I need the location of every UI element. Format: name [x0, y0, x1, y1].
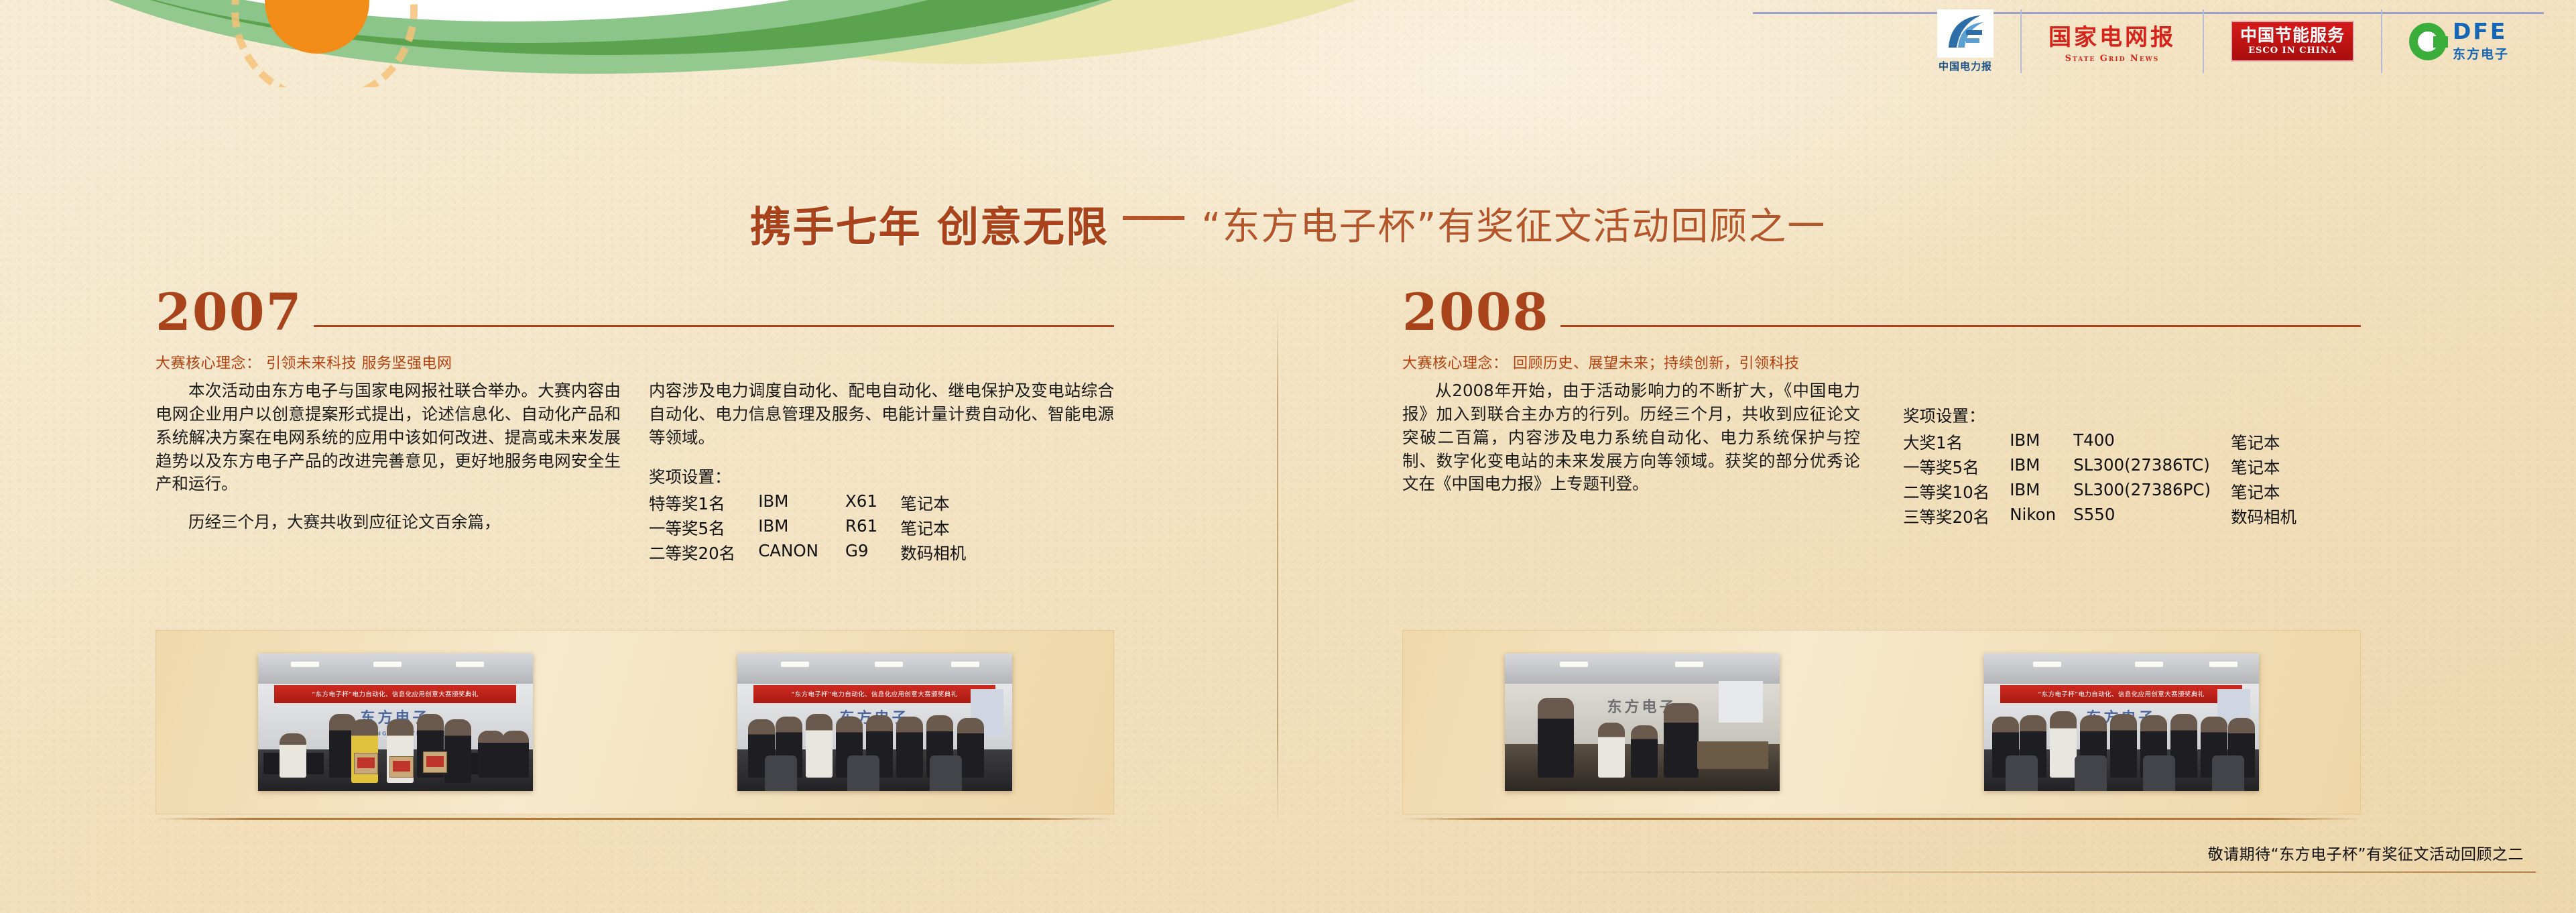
photo-award-handover: 东方电子: [1505, 654, 1780, 791]
table-row: 二等奖20名 CANON G9 数码相机: [649, 540, 966, 565]
photo-prize-box: [354, 753, 378, 774]
photo-person: [1664, 703, 1699, 778]
award-rank: 二等奖10名: [1903, 479, 2010, 504]
awards-table-2007: 特等奖1名 IBM X61 笔记本 一等奖5名 IBM R61 笔记本: [649, 491, 966, 565]
photo-person: [1538, 698, 1574, 778]
photo-backdrop-brand: 东方电子: [1554, 695, 1729, 717]
photo-person: [806, 714, 833, 777]
dfe-mark-icon: [2409, 23, 2447, 60]
photo-ceiling: [1505, 654, 1780, 684]
award-brand: IBM: [758, 491, 845, 515]
title-main-text: 携手七年 创意无限: [750, 193, 1109, 253]
photo-chair: [2006, 755, 2038, 791]
photo-chair: [2075, 755, 2107, 791]
photo-ceiling: [737, 654, 1012, 684]
photo-lamp-icon: [456, 662, 484, 667]
photo-chair: [930, 755, 962, 791]
photo-table: [1697, 741, 1769, 769]
table-row: 二等奖10名 IBM SL300(27386PC) 笔记本: [1903, 479, 2296, 504]
section-2008-kicker: 大赛核心理念： 回顾历史、展望未来；持续创新，引领科技: [1402, 351, 2361, 373]
award-brand: CANON: [758, 540, 845, 565]
photo-chair: [2143, 755, 2175, 791]
award-model: S550: [2073, 504, 2231, 529]
award-prize: 笔记本: [900, 515, 966, 540]
photo-lamp-icon: [291, 662, 319, 667]
logo-state-grid-news: 国家电网报 State Grid News: [2022, 9, 2204, 73]
award-prize: 笔记本: [2231, 454, 2296, 479]
poster-canvas: 中国电力报 国家电网报 State Grid News 中国节能服务 ESCO …: [0, 0, 2576, 913]
photo-lamp-icon: [951, 662, 979, 667]
photo-person: [1631, 725, 1658, 778]
photo-ceiling: [1984, 654, 2259, 684]
table-row: 三等奖20名 Nikon S550 数码相机: [1903, 504, 2296, 529]
award-model: SL300(27386PC): [2073, 479, 2231, 504]
award-rank: 一等奖5名: [649, 515, 758, 540]
photo-chair: [2212, 755, 2244, 791]
photo-banner-text: “东方电子杯”电力自动化、信息化应用创意大赛颁奖典礼: [2000, 685, 2242, 703]
dfe-lockup: DFE 东方电子: [2409, 20, 2509, 62]
footer-note: 敬请期待“东方电子杯”有奖征文活动回顾之二: [2208, 841, 2524, 864]
award-model: SL300(27386TC): [2073, 454, 2231, 479]
sgn-label-en: State Grid News: [2065, 54, 2160, 64]
photo-lamp-icon: [2033, 662, 2061, 667]
logo-strip: 中国电力报 国家电网报 State Grid News 中国节能服务 ESCO …: [1910, 9, 2536, 73]
award-model: X61: [845, 491, 900, 515]
photo-person: [2050, 711, 2077, 777]
photo-prize-box: [389, 756, 414, 778]
photo-projection-screen: [1719, 681, 1763, 723]
section-2008: 2008 大赛核心理念： 回顾历史、展望未来；持续创新，引领科技 从2008年开…: [1402, 288, 2361, 529]
award-rank: 二等奖20名: [649, 540, 758, 565]
award-brand: Nikon: [2010, 504, 2073, 529]
award-prize: 笔记本: [2231, 430, 2296, 454]
photo-award-ceremony: “东方电子杯”电力自动化、信息化应用创意大赛颁奖典礼 东方电子 DONGFANG…: [258, 654, 533, 791]
photo-ceiling: [258, 654, 533, 684]
photo-chair: [765, 755, 797, 791]
photo-panel-2007: “东方电子杯”电力自动化、信息化应用创意大赛颁奖典礼 东方电子 DONGFANG…: [156, 630, 1114, 814]
logo-esco-in-china: 中国节能服务 ESCO IN CHINA: [2204, 9, 2382, 73]
award-prize: 笔记本: [2231, 479, 2296, 504]
photo-lamp-icon: [781, 662, 809, 667]
award-rank: 三等奖20名: [1903, 504, 2010, 529]
award-model: T400: [2073, 430, 2231, 454]
photo-lamp-icon: [2209, 662, 2237, 667]
title-dash: [1123, 216, 1184, 220]
award-brand: IBM: [2010, 479, 2073, 504]
sgn-label-cn: 国家电网报: [2048, 19, 2176, 52]
esco-badge: 中国节能服务 ESCO IN CHINA: [2231, 21, 2354, 62]
cepn-mark-icon: [1937, 9, 1994, 58]
paragraph: 历经三个月，大赛共收到应征论文百余篇，: [156, 511, 621, 534]
year-rule: [314, 325, 1114, 327]
dfe-label-en: DFE: [2453, 20, 2509, 42]
year-rule: [1560, 325, 2361, 327]
poster-title: 携手七年 创意无限 “东方电子杯”有奖征文活动回顾之一: [0, 193, 2576, 253]
award-brand: IBM: [758, 515, 845, 540]
section-2008-heading: 2008: [1402, 288, 2361, 337]
section-2007: 2007 大赛核心理念： 引领未来科技 服务坚强电网 本次活动由东方电子与国家电…: [156, 288, 1114, 565]
table-row: 一等奖5名 IBM SL300(27386TC) 笔记本: [1903, 454, 2296, 479]
photo-lamp-icon: [373, 662, 402, 667]
photo-person: [280, 733, 306, 778]
photo-person: [896, 717, 923, 777]
photo-chair: [847, 755, 879, 791]
photo-person: [478, 731, 505, 778]
awards-title: 奖项设置：: [1903, 404, 2361, 427]
section-2007-body-right: 内容涉及电力调度自动化、配电自动化、继电保护及变电站综合自动化、电力信息管理及服…: [649, 379, 1114, 564]
esco-label-cn: 中国节能服务: [2240, 27, 2345, 44]
award-model: R61: [845, 515, 900, 540]
photo-banner-text: “东方电子杯”电力自动化、信息化应用创意大赛颁奖典礼: [753, 685, 995, 703]
photo-group-shot: “东方电子杯”电力自动化、信息化应用创意大赛颁奖典礼 东方电子: [737, 654, 1012, 791]
dfe-label-cn: 东方电子: [2453, 44, 2509, 62]
section-2007-body: 本次活动由东方电子与国家电网报社联合举办。大赛内容由电网企业用户以创意提案形式提…: [156, 379, 1114, 564]
award-brand: IBM: [2010, 430, 2073, 454]
esco-label-en: ESCO IN CHINA: [2248, 46, 2337, 56]
table-row: 大奖1名 IBM T400 笔记本: [1903, 430, 2296, 454]
year-label: 2008: [1402, 288, 1550, 337]
photo-prize-box: [423, 751, 447, 773]
title-sub-text: “东方电子杯”有奖征文活动回顾之一: [1201, 196, 1826, 251]
dfe-wordmark: DFE 东方电子: [2453, 20, 2509, 62]
logo-china-electric-power-news: 中国电力报: [1910, 9, 2022, 73]
section-2008-body-right: 奖项设置： 大奖1名 IBM T400 笔记本 一等奖5名 IBM SL300(…: [1903, 402, 2361, 529]
photo-lamp-icon: [2135, 662, 2163, 667]
table-row: 特等奖1名 IBM X61 笔记本: [649, 491, 966, 515]
award-rank: 大奖1名: [1903, 430, 2010, 454]
year-label: 2007: [156, 288, 303, 337]
award-prize: 笔记本: [900, 491, 966, 515]
award-model: G9: [845, 540, 900, 565]
photo-person: [502, 731, 529, 778]
section-2008-body: 从2008年开始，由于活动影响力的不断扩大，《中国电力报》加入到联合主办方的行列…: [1402, 379, 2361, 529]
award-rank: 特等奖1名: [649, 491, 758, 515]
photo-lamp-icon: [875, 662, 903, 667]
photo-person: [1598, 723, 1625, 778]
photo-lamp-icon: [1675, 662, 1703, 667]
awards-title: 奖项设置：: [649, 465, 1114, 488]
award-brand: IBM: [2010, 454, 2073, 479]
award-prize: 数码相机: [2231, 504, 2296, 529]
photo-person: [444, 719, 471, 782]
award-prize: 数码相机: [900, 540, 966, 565]
awards-table-2008: 大奖1名 IBM T400 笔记本 一等奖5名 IBM SL300(27386T…: [1903, 430, 2296, 529]
section-2007-heading: 2007: [156, 288, 1114, 337]
section-2007-body-left: 本次活动由东方电子与国家电网报社联合举办。大赛内容由电网企业用户以创意提案形式提…: [156, 379, 621, 564]
table-row: 一等奖5名 IBM R61 笔记本: [649, 515, 966, 540]
column-divider: [1277, 305, 1278, 828]
paragraph: 本次活动由东方电子与国家电网报社联合举办。大赛内容由电网企业用户以创意提案形式提…: [156, 379, 621, 496]
cepn-label: 中国电力报: [1939, 59, 1992, 73]
photo-group-awardees: “东方电子杯”电力自动化、信息化应用创意大赛颁奖典礼 东方电子: [1984, 654, 2259, 791]
photo-person: [2110, 714, 2137, 777]
photo-banner-text: “东方电子杯”电力自动化、信息化应用创意大赛颁奖典礼: [274, 685, 516, 703]
photo-lamp-icon: [1560, 662, 1588, 667]
section-2007-kicker: 大赛核心理念： 引领未来科技 服务坚强电网: [156, 351, 1114, 373]
logo-dongfang-electronics: DFE 东方电子: [2382, 9, 2536, 73]
paragraph: 内容涉及电力调度自动化、配电自动化、继电保护及变电站综合自动化、电力信息管理及服…: [649, 379, 1114, 449]
award-rank: 一等奖5名: [1903, 454, 2010, 479]
paragraph: 从2008年开始，由于活动影响力的不断扩大，《中国电力报》加入到联合主办方的行列…: [1402, 379, 1860, 496]
footer-rule: [1550, 871, 2536, 873]
section-2008-body-left: 从2008年开始，由于活动影响力的不断扩大，《中国电力报》加入到联合主办方的行列…: [1402, 379, 1860, 529]
photo-panel-2008: 东方电子 “东方电子杯”电力自动化、信息化应用创意大赛颁奖典礼 东方电子: [1402, 630, 2361, 814]
